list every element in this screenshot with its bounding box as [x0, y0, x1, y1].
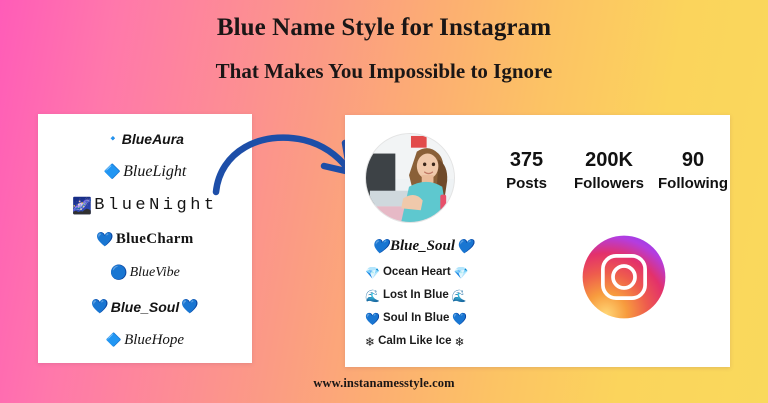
stat-label: Posts	[493, 175, 560, 192]
blue-name-item[interactable]: 🔷BlueHope	[44, 323, 246, 357]
name-prefix-emoji-icon: 🔵	[110, 266, 127, 280]
blue-name-text: BlueNight	[94, 196, 217, 215]
instagram-profile-card: 💙 Blue_Soul 💙 💎Ocean Heart💎🌊Lost In Blue…	[345, 115, 730, 367]
name-prefix-emoji-icon: 💙	[91, 300, 108, 314]
instagram-logo[interactable]	[580, 233, 668, 321]
stat-label: Followers	[574, 175, 644, 192]
bio-prefix-emoji-icon: 💙	[365, 313, 380, 325]
name-suffix-emoji-icon: 💙	[181, 300, 198, 314]
profile-username: 💙 Blue_Soul 💙	[365, 238, 480, 255]
stat-value: 200K	[574, 149, 644, 172]
name-prefix-emoji-icon: 💙	[96, 233, 113, 247]
name-prefix-emoji-icon: 🔹	[106, 133, 120, 144]
bio-prefix-emoji-icon: 🌊	[365, 290, 380, 302]
blue-name-text: BlueVibe	[130, 265, 180, 281]
bio-text: Soul In Blue	[383, 313, 449, 325]
blue-name-item[interactable]: 💙BlueCharm	[44, 223, 246, 257]
name-prefix-emoji-icon: 🔷	[104, 165, 121, 179]
blue-name-text: BlueCharm	[116, 231, 194, 248]
bio-line: 💙Soul In Blue💙	[365, 313, 500, 325]
stat-following[interactable]: 90Following	[658, 149, 728, 192]
bio-suffix-emoji-icon: 💙	[452, 313, 467, 325]
bio-suffix-emoji-icon: 💎	[454, 267, 469, 279]
page-subtitle: That Makes You Impossible to Ignore	[0, 59, 768, 83]
stat-posts[interactable]: 375Posts	[493, 149, 560, 192]
header: Blue Name Style for Instagram That Makes…	[0, 14, 768, 83]
profile-stats: 375Posts200KFollowers90Following	[493, 149, 728, 192]
page-title: Blue Name Style for Instagram	[0, 14, 768, 43]
stat-followers[interactable]: 200KFollowers	[574, 149, 644, 192]
bio-text: Lost In Blue	[383, 290, 449, 302]
bio-suffix-emoji-icon: 🌊	[452, 290, 467, 302]
stat-value: 90	[658, 149, 728, 172]
blue-name-text: Blue_Soul	[111, 299, 179, 315]
bio-text: Calm Like Ice	[378, 336, 452, 348]
stat-value: 375	[493, 149, 560, 172]
bio-prefix-emoji-icon: ❄	[365, 336, 375, 348]
blue-name-text: BlueHope	[124, 332, 184, 349]
blue-name-text: BlueLight	[123, 163, 186, 181]
blue-heart-icon: 💙	[456, 240, 473, 254]
bio-line: 💎Ocean Heart💎	[365, 267, 500, 279]
name-prefix-emoji-icon: 🌌	[72, 198, 92, 214]
bio-suffix-emoji-icon: ❄	[455, 336, 465, 348]
bio-line: 🌊Lost In Blue🌊	[365, 290, 500, 302]
stat-label: Following	[658, 175, 728, 192]
avatar[interactable]	[365, 133, 455, 223]
blue-heart-icon: 💙	[372, 240, 389, 254]
bio-prefix-emoji-icon: 💎	[365, 267, 380, 279]
username-text: Blue_Soul	[390, 238, 455, 255]
blue-name-item[interactable]: 💙Blue_Soul💙	[44, 290, 246, 324]
curved-arrow-icon	[212, 124, 362, 196]
avatar-photo	[366, 134, 454, 222]
name-prefix-emoji-icon: 🔷	[106, 334, 122, 347]
bio-text: Ocean Heart	[383, 267, 451, 279]
profile-identity: 💙 Blue_Soul 💙	[365, 133, 480, 255]
blue-name-item[interactable]: 🔵BlueVibe	[44, 256, 246, 290]
footer-website[interactable]: www.instanamesstyle.com	[0, 376, 768, 391]
blue-name-text: BlueAura	[122, 131, 184, 147]
profile-bio: 💎Ocean Heart💎🌊Lost In Blue🌊💙Soul In Blue…	[365, 267, 500, 359]
bio-line: ❄Calm Like Ice❄	[365, 336, 500, 348]
